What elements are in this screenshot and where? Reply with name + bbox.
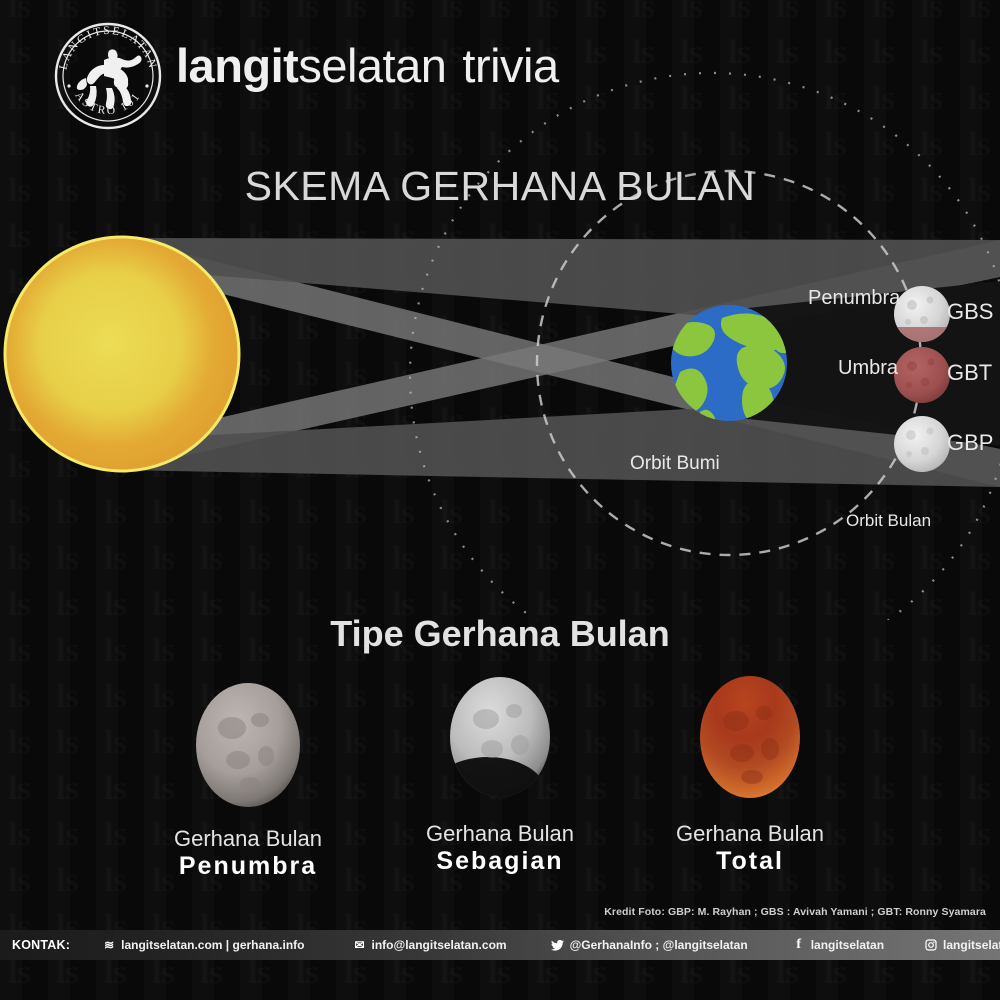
moon-type-card: Gerhana Bulan Total — [620, 675, 880, 876]
label-gbs: GBS — [947, 299, 993, 325]
rss-icon: ≋ — [102, 938, 116, 952]
moon-partial-photo — [440, 675, 560, 805]
brand-bold: langit — [176, 39, 298, 92]
label-orbit-bumi: Orbit Bumi — [630, 453, 720, 475]
moon-type-line2: Penumbra — [118, 851, 378, 881]
infographic-page: lslslslslslslslslslslslslslslslslslslsls… — [0, 0, 1000, 1000]
footer-item-email[interactable]: ✉ info@langitselatan.com — [353, 938, 507, 952]
footer-item-facebook[interactable]: f langitselatan — [792, 938, 884, 952]
types-title: Tipe Gerhana Bulan — [0, 613, 1000, 655]
sun-icon — [5, 237, 239, 471]
label-orbit-bulan: Orbit Bulan — [846, 511, 931, 531]
brand-suffix: trivia — [462, 39, 558, 92]
moon-gbp-icon — [894, 416, 950, 472]
brand-wordmark: langitselatantrivia — [176, 38, 559, 93]
label-penumbra: Penumbra — [808, 287, 900, 310]
label-gbt: GBT — [947, 360, 992, 386]
langitselatan-logo: LANGITSELATAN ASTRO 101 — [52, 20, 164, 132]
label-gbp: GBP — [947, 430, 993, 456]
moon-type-line1: Gerhana Bulan — [620, 821, 880, 846]
moon-type-caption: Gerhana Bulan Total — [620, 821, 880, 876]
moon-type-line1: Gerhana Bulan — [370, 821, 630, 846]
label-umbra: Umbra — [838, 357, 898, 380]
footer-twitter-text: @GerhanaInfo ; @langitselatan — [570, 938, 748, 952]
moon-gbt-icon — [894, 347, 950, 403]
twitter-icon — [551, 938, 565, 952]
moon-type-caption: Gerhana Bulan Penumbra — [118, 826, 378, 881]
photo-credit: Kredit Foto: GBP: M. Rayhan ; GBS : Aviv… — [604, 906, 986, 918]
brand-light: selatan — [298, 39, 446, 92]
footer-email-text: info@langitselatan.com — [372, 938, 507, 952]
email-icon: ✉ — [353, 938, 367, 952]
moon-type-card: Gerhana Bulan Sebagian — [370, 675, 630, 876]
footer-item-website[interactable]: ≋ langitselatan.com | gerhana.info — [102, 938, 304, 952]
footer-instagram-text: langitselatanmedia — [943, 938, 1000, 952]
footer-item-instagram[interactable]: langitselatanmedia — [924, 938, 1000, 952]
moon-type-line2: Total — [620, 846, 880, 876]
moon-total-photo — [690, 675, 810, 805]
scheme-title: SKEMA GERHANA BULAN — [0, 163, 1000, 210]
moon-penumbral-photo — [188, 680, 308, 810]
kontak-label: KONTAK: — [0, 938, 76, 952]
footer-facebook-text: langitselatan — [811, 938, 884, 952]
contact-footer: KONTAK: ≋ langitselatan.com | gerhana.in… — [0, 930, 1000, 960]
header: LANGITSELATAN ASTRO 101 langitselatantri… — [0, 0, 1000, 140]
moon-type-caption: Gerhana Bulan Sebagian — [370, 821, 630, 876]
footer-website-text: langitselatan.com | gerhana.info — [121, 938, 304, 952]
footer-item-twitter[interactable]: @GerhanaInfo ; @langitselatan — [551, 938, 748, 952]
facebook-icon: f — [792, 938, 806, 952]
instagram-icon — [924, 938, 938, 952]
moon-type-line2: Sebagian — [370, 846, 630, 876]
moon-type-line1: Gerhana Bulan — [118, 826, 378, 851]
moon-type-card: Gerhana Bulan Penumbra — [118, 680, 378, 881]
